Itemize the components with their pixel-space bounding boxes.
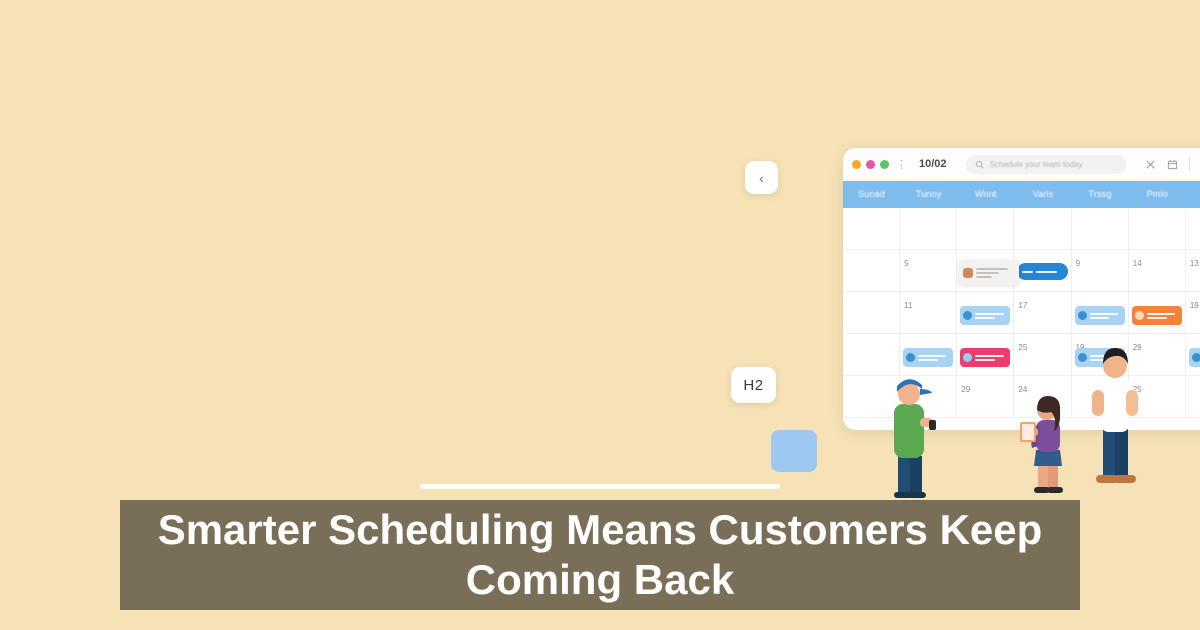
event-text-lines bbox=[975, 355, 1007, 361]
calendar-day-number: 29 bbox=[961, 385, 970, 394]
calendar-day-cell[interactable] bbox=[1186, 376, 1200, 418]
calendar-day-number: 9 bbox=[1076, 259, 1080, 268]
person-purple-top bbox=[1018, 392, 1076, 496]
calendar-event-chip[interactable] bbox=[1075, 306, 1125, 325]
event-text-lines bbox=[975, 313, 1007, 319]
search-placeholder: Schedule your team today bbox=[990, 160, 1083, 169]
page-title: Smarter Scheduling Means Customers Keep … bbox=[135, 505, 1065, 606]
weekday-label: Tunny bbox=[900, 181, 957, 208]
weekday-label: Pmio bbox=[1129, 181, 1186, 208]
maximize-window-dot[interactable] bbox=[880, 160, 889, 169]
title-divider bbox=[420, 484, 780, 489]
calendar-day-cell[interactable] bbox=[1129, 208, 1186, 250]
calendar-icon[interactable] bbox=[1167, 159, 1178, 170]
popup-avatar bbox=[963, 268, 973, 278]
person-white-shirt bbox=[1082, 342, 1144, 490]
calendar-event-popup[interactable] bbox=[959, 260, 1019, 285]
search-icon bbox=[975, 160, 984, 169]
close-icon[interactable] bbox=[1145, 159, 1156, 170]
calendar-day-cell[interactable]: 14 bbox=[1129, 250, 1186, 292]
weekday-label: Tatv bbox=[1186, 181, 1200, 208]
event-text-lines bbox=[918, 355, 950, 361]
calendar-day-number: 17 bbox=[1018, 301, 1027, 310]
calendar-day-cell[interactable] bbox=[957, 250, 1014, 292]
event-avatar bbox=[963, 353, 972, 362]
calendar-day-cell[interactable] bbox=[957, 334, 1014, 376]
calendar-day-number: 25 bbox=[1018, 343, 1027, 352]
calendar-day-cell[interactable]: 11 bbox=[900, 292, 957, 334]
calendar-primary-event-button[interactable] bbox=[1017, 263, 1067, 280]
person-green-shirt bbox=[876, 370, 938, 498]
browser-toolbar: ⋮ 10/02 Schedule your team today bbox=[843, 148, 1200, 181]
search-input[interactable]: Schedule your team today bbox=[966, 155, 1126, 174]
calendar-day-cell[interactable]: 25 bbox=[1014, 334, 1071, 376]
event-text-lines bbox=[1090, 313, 1122, 319]
calendar-day-cell[interactable] bbox=[1129, 292, 1186, 334]
calendar-day-number: 14 bbox=[1133, 259, 1142, 268]
calendar-day-cell[interactable] bbox=[1014, 208, 1071, 250]
calendar-day-cell[interactable] bbox=[900, 208, 957, 250]
calendar-day-cell[interactable]: 17 bbox=[1014, 292, 1071, 334]
calendar-event-chip[interactable] bbox=[960, 306, 1010, 325]
minimize-window-dot[interactable] bbox=[866, 160, 875, 169]
event-avatar bbox=[1192, 353, 1200, 362]
calendar-day-cell[interactable] bbox=[1072, 208, 1129, 250]
calendar-day-cell[interactable] bbox=[843, 250, 900, 292]
event-avatar bbox=[906, 353, 915, 362]
calendar-day-cell[interactable] bbox=[1186, 334, 1200, 376]
calendar-day-cell[interactable]: 13 bbox=[1186, 250, 1200, 292]
weekday-label: Wnnt bbox=[957, 181, 1014, 208]
calendar-day-cell[interactable]: 5 bbox=[900, 250, 957, 292]
calendar-day-number: 5 bbox=[904, 259, 908, 268]
calendar-day-cell[interactable]: 19 bbox=[1186, 292, 1200, 334]
popup-text-lines bbox=[976, 268, 1015, 278]
calendar-day-cell[interactable]: 9 bbox=[1072, 250, 1129, 292]
calendar-day-cell[interactable] bbox=[1014, 250, 1071, 292]
weekday-label: Varis bbox=[1014, 181, 1071, 208]
calendar-day-cell[interactable]: 29 bbox=[957, 376, 1014, 418]
calendar-event-chip[interactable] bbox=[960, 348, 1010, 367]
event-avatar bbox=[1135, 311, 1144, 320]
event-avatar bbox=[963, 311, 972, 320]
calendar-prev-button[interactable]: ‹ bbox=[745, 161, 778, 194]
toolbar-divider bbox=[1189, 157, 1190, 171]
calendar-day-number: 11 bbox=[904, 301, 912, 310]
event-text-lines bbox=[1147, 313, 1179, 319]
calendar-event-chip[interactable] bbox=[903, 348, 953, 367]
blue-square-tile[interactable] bbox=[771, 430, 817, 472]
h2-badge-card[interactable]: H2 bbox=[731, 367, 776, 403]
calendar-weekday-header: Sunad Tunny Wnnt Varis Trssg Pmio Tatv bbox=[843, 181, 1200, 208]
close-window-dot[interactable] bbox=[852, 160, 861, 169]
toolbar-icon-group bbox=[1145, 157, 1200, 171]
title-banner: Smarter Scheduling Means Customers Keep … bbox=[120, 500, 1080, 610]
weekday-label: Sunad bbox=[843, 181, 900, 208]
calendar-day-cell[interactable] bbox=[957, 292, 1014, 334]
calendar-day-number: 13 bbox=[1190, 259, 1199, 268]
kebab-menu-icon[interactable]: ⋮ bbox=[896, 158, 906, 171]
chevron-left-icon: ‹ bbox=[759, 170, 764, 186]
calendar-day-cell[interactable] bbox=[957, 208, 1014, 250]
weekday-label: Trssg bbox=[1072, 181, 1129, 208]
calendar-day-cell[interactable] bbox=[843, 292, 900, 334]
h2-badge-label: H2 bbox=[743, 377, 763, 394]
calendar-day-cell[interactable] bbox=[1186, 208, 1200, 250]
calendar-event-chip[interactable] bbox=[1189, 348, 1200, 367]
event-avatar bbox=[1078, 311, 1087, 320]
calendar-day-cell[interactable] bbox=[1072, 292, 1129, 334]
window-traffic-lights[interactable]: ⋮ bbox=[852, 158, 906, 171]
calendar-day-cell[interactable] bbox=[843, 208, 900, 250]
calendar-event-chip[interactable] bbox=[1132, 306, 1182, 325]
calendar-day-number: 19 bbox=[1190, 301, 1199, 310]
toolbar-date-label: 10/02 bbox=[919, 158, 947, 170]
